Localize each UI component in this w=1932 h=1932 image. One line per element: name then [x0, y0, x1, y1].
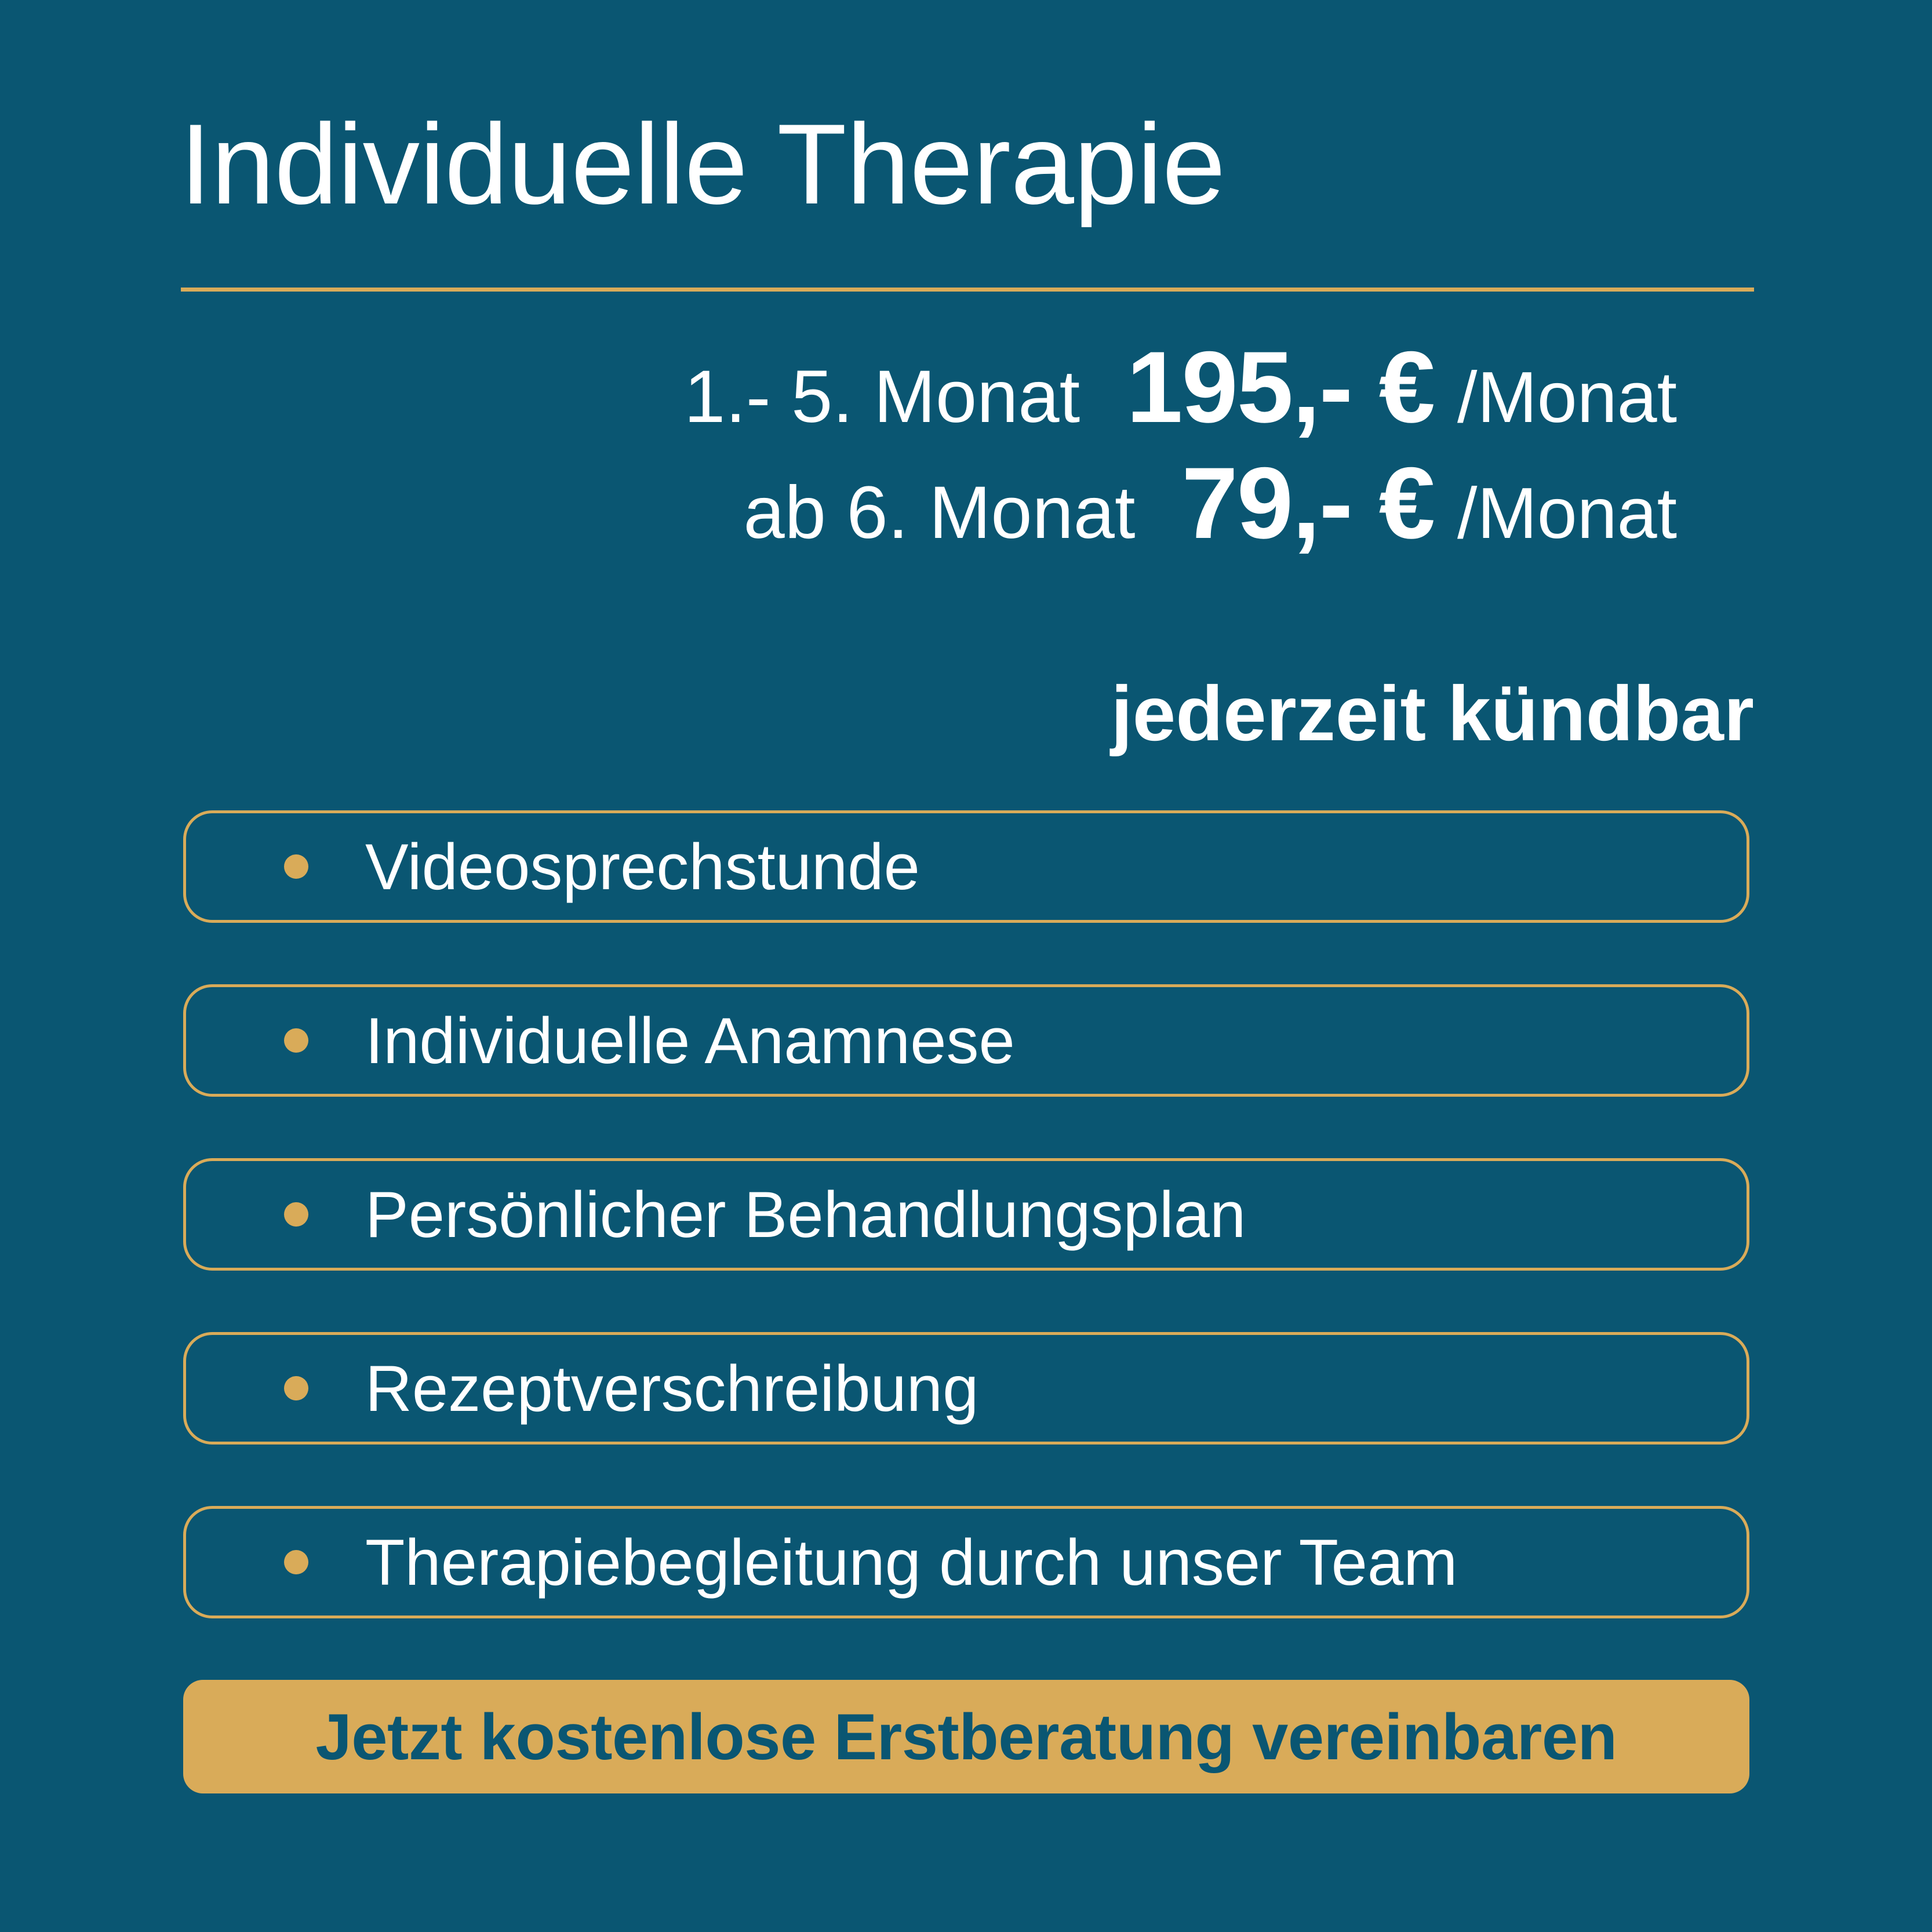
bullet-dot-icon — [284, 854, 308, 879]
list-item[interactable]: Therapiebegleitung durch unser Team — [183, 1506, 1749, 1618]
price-period-label: 1.- 5. Monat — [684, 354, 1080, 439]
list-item-label: Videosprechstunde — [365, 829, 1747, 904]
bullet-dot-icon — [284, 1028, 308, 1053]
bullet-dot-icon — [284, 1376, 308, 1400]
list-item[interactable]: Rezeptverschreibung — [183, 1332, 1749, 1445]
page-title: Individuelle Therapie — [180, 107, 1225, 221]
price-row: ab 6. Monat 79,- € /Monat — [180, 445, 1754, 561]
bullet-dot-icon — [284, 1202, 308, 1227]
price-unit-label: /Monat — [1457, 472, 1754, 555]
list-item[interactable]: Videosprechstunde — [183, 810, 1749, 923]
list-item[interactable]: Individuelle Anamnese — [183, 984, 1749, 1097]
price-period-label: ab 6. Monat — [744, 470, 1136, 555]
price-amount: 79,- € — [1182, 445, 1435, 562]
list-item[interactable]: Persönlicher Behandlungsplan — [183, 1158, 1749, 1271]
book-consultation-button[interactable]: Jetzt kostenlose Erstberatung vereinbare… — [183, 1680, 1749, 1793]
price-amount: 195,- € — [1126, 329, 1434, 446]
list-item-label: Individuelle Anamnese — [365, 1003, 1747, 1078]
pricing-section: 1.- 5. Monat 195,- € /Monat ab 6. Monat … — [180, 329, 1754, 561]
price-unit-label: /Monat — [1457, 356, 1754, 439]
cancellation-note: jederzeit kündbar — [180, 670, 1754, 758]
pricing-card: Individuelle Therapie 1.- 5. Monat 195,-… — [0, 0, 1932, 1932]
list-item-label: Persönlicher Behandlungsplan — [365, 1177, 1747, 1252]
bullet-dot-icon — [284, 1550, 308, 1574]
list-item-label: Therapiebegleitung durch unser Team — [365, 1525, 1747, 1600]
feature-list: Videosprechstunde Individuelle Anamnese … — [183, 810, 1749, 1680]
price-row: 1.- 5. Monat 195,- € /Monat — [180, 329, 1754, 445]
title-divider — [181, 288, 1754, 292]
list-item-label: Rezeptverschreibung — [365, 1351, 1747, 1426]
